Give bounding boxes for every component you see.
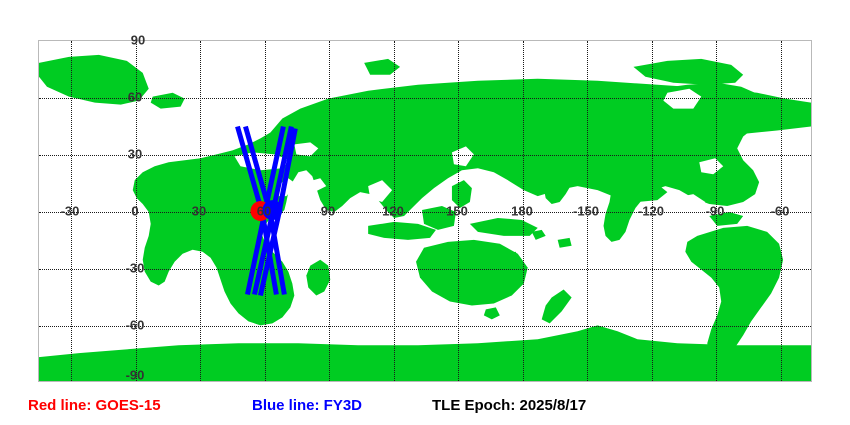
lon-tick--150: -150 — [573, 205, 599, 218]
lon-tick-30: 30 — [192, 205, 206, 218]
lon-tick-60: 60 — [257, 205, 271, 218]
lon-tick-180: 180 — [511, 205, 533, 218]
lat-tick-90: 90 — [131, 34, 145, 47]
satellite-position-markers — [39, 41, 811, 381]
lon-tick-150: 150 — [446, 205, 468, 218]
map-plot-area — [38, 40, 812, 382]
lat-tick--60: -60 — [126, 319, 145, 332]
legend-blue-line-fy3d: Blue line: FY3D — [252, 396, 362, 416]
map-legend: Red line: GOES-15 Blue line: FY3D TLE Ep… — [0, 396, 850, 420]
lon-tick--90: -90 — [706, 205, 725, 218]
lat-tick-0: 0 — [131, 205, 138, 218]
lon-tick-120: 120 — [382, 205, 404, 218]
legend-tle-epoch: TLE Epoch: 2025/8/17 — [432, 396, 586, 416]
lon-tick--120: -120 — [638, 205, 664, 218]
lat-tick-60: 60 — [128, 91, 142, 104]
lon-tick--30: -30 — [61, 205, 80, 218]
lat-tick-30: 30 — [128, 148, 142, 161]
lat-tick--90: -90 — [126, 369, 145, 382]
lon-tick-90: 90 — [321, 205, 335, 218]
lon-tick--60: -60 — [771, 205, 790, 218]
lat-tick--30: -30 — [126, 262, 145, 275]
legend-red-line-goes15: Red line: GOES-15 — [28, 396, 161, 416]
satellite-track-map-figure: -30 0 30 60 90 120 150 180 -150 -120 -90… — [0, 0, 850, 425]
satellite-marker-layer — [39, 41, 811, 381]
